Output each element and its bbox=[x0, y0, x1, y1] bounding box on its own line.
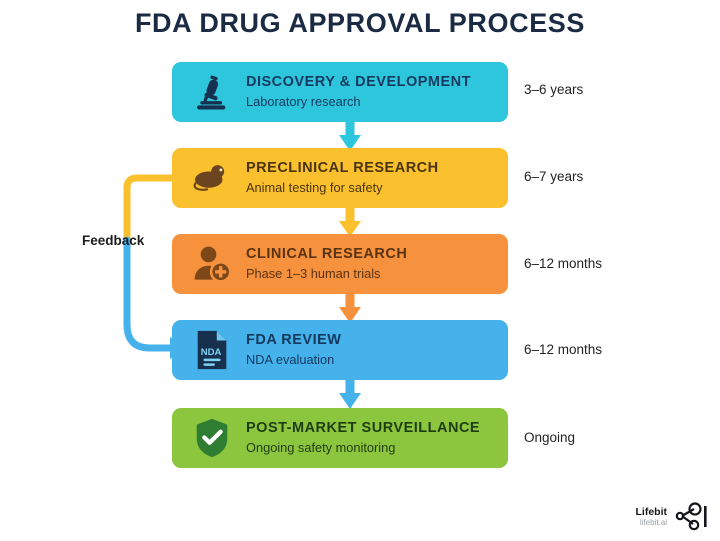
stage-subtitle: Animal testing for safety bbox=[246, 179, 439, 196]
stage-heading: POST-MARKET SURVEILLANCE bbox=[246, 420, 480, 437]
stage-discovery-development[interactable]: DISCOVERY & DEVELOPMENT Laboratory resea… bbox=[172, 62, 508, 122]
nda-document-icon: NDA bbox=[186, 326, 238, 374]
shield-check-icon bbox=[186, 414, 238, 462]
duration-clinical-research: 6–12 months bbox=[524, 256, 602, 271]
stage-fda-review[interactable]: NDA FDA REVIEW NDA evaluation bbox=[172, 320, 508, 380]
feedback-label: Feedback bbox=[82, 233, 144, 248]
logo-domain: lifebit.ai bbox=[636, 518, 668, 527]
stage-subtitle: Ongoing safety monitoring bbox=[246, 439, 480, 456]
mouse-icon bbox=[186, 154, 238, 202]
lifebit-logo[interactable]: Lifebit lifebit.ai bbox=[636, 501, 709, 533]
stage-text: DISCOVERY & DEVELOPMENT Laboratory resea… bbox=[246, 74, 471, 111]
stage-heading: PRECLINICAL RESEARCH bbox=[246, 160, 439, 177]
stage-subtitle: Phase 1–3 human trials bbox=[246, 265, 407, 282]
stage-subtitle: Laboratory research bbox=[246, 93, 471, 110]
infographic-canvas: FDA DRUG APPROVAL PROCESS Feedback D bbox=[0, 0, 720, 541]
stage-post-market-surveillance[interactable]: POST-MARKET SURVEILLANCE Ongoing safety … bbox=[172, 408, 508, 468]
stage-heading: DISCOVERY & DEVELOPMENT bbox=[246, 74, 471, 91]
page-title: FDA DRUG APPROVAL PROCESS bbox=[0, 8, 720, 39]
stage-text: POST-MARKET SURVEILLANCE Ongoing safety … bbox=[246, 420, 480, 457]
stage-text: FDA REVIEW NDA evaluation bbox=[246, 332, 342, 369]
node-graph-icon bbox=[674, 501, 708, 533]
duration-preclinical-research: 6–7 years bbox=[524, 169, 583, 184]
stage-heading: FDA REVIEW bbox=[246, 332, 342, 349]
nda-icon-label: NDA bbox=[201, 347, 222, 358]
logo-name: Lifebit bbox=[636, 506, 668, 518]
arrow-fdareview-to-postmarket bbox=[338, 379, 362, 411]
duration-fda-review: 6–12 months bbox=[524, 342, 602, 357]
stage-preclinical-research[interactable]: PRECLINICAL RESEARCH Animal testing for … bbox=[172, 148, 508, 208]
stage-text: CLINICAL RESEARCH Phase 1–3 human trials bbox=[246, 246, 407, 283]
duration-discovery-development: 3–6 years bbox=[524, 82, 583, 97]
stage-clinical-research[interactable]: CLINICAL RESEARCH Phase 1–3 human trials bbox=[172, 234, 508, 294]
logo-text: Lifebit lifebit.ai bbox=[636, 506, 668, 527]
feedback-path-lower bbox=[127, 240, 178, 348]
stage-heading: CLINICAL RESEARCH bbox=[246, 246, 407, 263]
duration-post-market-surveillance: Ongoing bbox=[524, 430, 575, 445]
patient-plus-icon bbox=[186, 240, 238, 288]
stage-subtitle: NDA evaluation bbox=[246, 351, 342, 368]
microscope-icon bbox=[186, 68, 238, 116]
stage-text: PRECLINICAL RESEARCH Animal testing for … bbox=[246, 160, 439, 197]
